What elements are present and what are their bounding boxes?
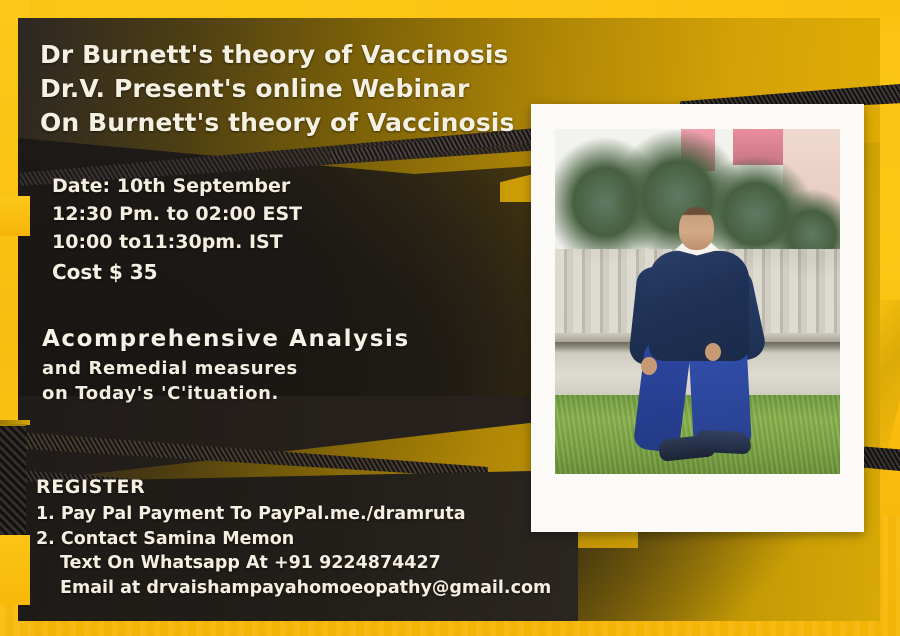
webinar-poster: Dr Burnett's theory of Vaccinosis Dr.V. … <box>0 0 900 636</box>
left-yellow-notch-bottom <box>0 535 30 605</box>
schedule-block: Date: 10th September 12:30 Pm. to 02:00 … <box>52 172 302 256</box>
analysis-subtext: and Remedial measures on Today's 'C'itua… <box>42 356 298 406</box>
photo-person-torso <box>649 251 749 361</box>
schedule-time-ist: 10:00 to11:30pm. IST <box>52 228 302 256</box>
photo-person-hand-left <box>641 357 657 375</box>
speaker-photo <box>555 129 840 474</box>
analysis-headline: Acomprehensive Analysis <box>42 326 410 352</box>
photo-person-hand-right <box>705 343 721 361</box>
register-item-email: Email at drvaishampayahomoeopathy@gmail.… <box>36 576 551 601</box>
register-item-contact: 2. Contact Samina Memon <box>36 527 551 552</box>
register-item-paypal: 1. Pay Pal Payment To PayPal.me./dramrut… <box>36 502 551 527</box>
title-line-2: Dr.V. Present's online Webinar <box>40 72 514 106</box>
left-yellow-notch-top <box>0 196 30 236</box>
register-heading: REGISTER <box>36 476 145 498</box>
title-line-3: On Burnett's theory of Vaccinosis <box>40 106 514 140</box>
analysis-sub-line-1: and Remedial measures <box>42 356 298 381</box>
register-list: 1. Pay Pal Payment To PayPal.me./dramrut… <box>36 502 551 600</box>
poster-title: Dr Burnett's theory of Vaccinosis Dr.V. … <box>40 38 514 140</box>
schedule-time-est: 12:30 Pm. to 02:00 EST <box>52 200 302 228</box>
top-yellow-band <box>0 0 900 20</box>
register-item-whatsapp: Text On Whatsapp At +91 9224874427 <box>36 551 551 576</box>
title-line-1: Dr Burnett's theory of Vaccinosis <box>40 38 514 72</box>
analysis-sub-line-2: on Today's 'C'ituation. <box>42 381 298 406</box>
left-striped-tab <box>0 424 26 538</box>
schedule-date: Date: 10th September <box>52 172 302 200</box>
photo-person-head <box>679 207 714 250</box>
photo-person-shoe-right <box>694 430 751 455</box>
cost-label: Cost $ 35 <box>52 260 158 284</box>
photo-frame <box>531 104 864 532</box>
